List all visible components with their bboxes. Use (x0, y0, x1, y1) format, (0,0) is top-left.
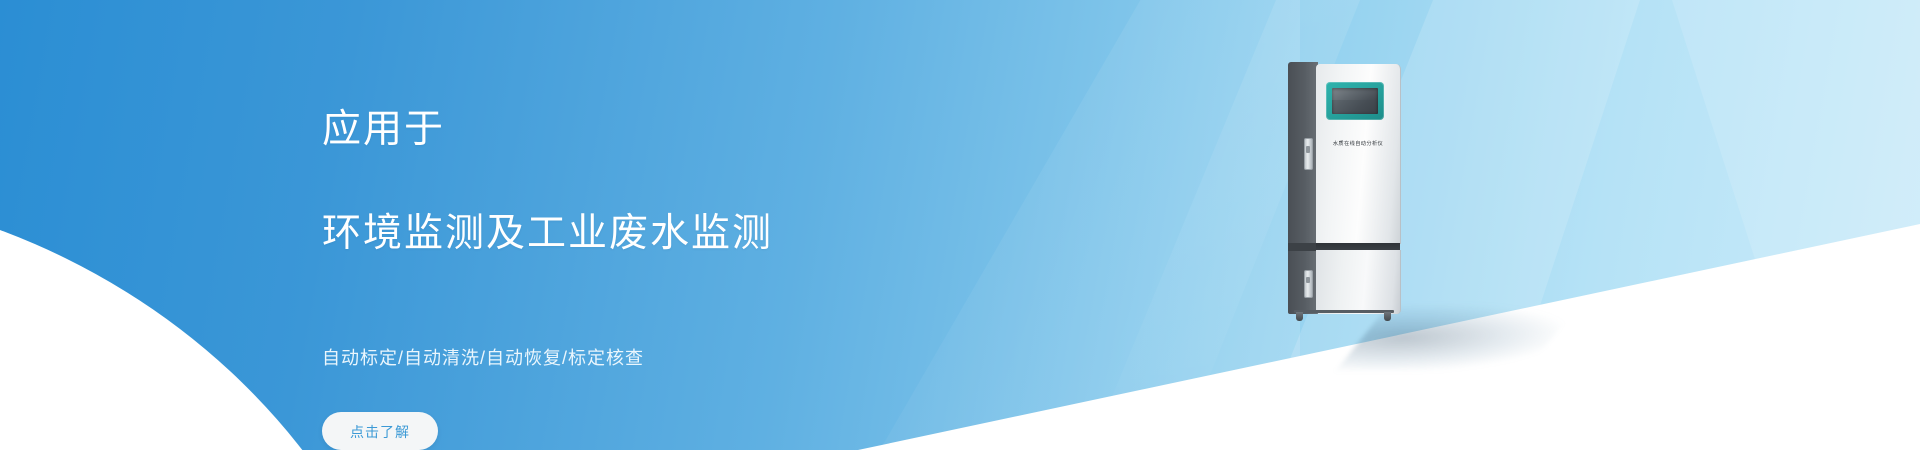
page-title: 应用于 环境监测及工业废水监测 (322, 52, 1082, 312)
hero-copy: 应用于 环境监测及工业废水监测 自动标定/自动清洗/自动恢复/标定核查 点击了解 (322, 52, 1082, 450)
display-bezel (1326, 82, 1384, 120)
cabinet-base-rail (1294, 310, 1394, 313)
display-screen-icon (1332, 88, 1378, 114)
cabinet-lower-door (1316, 250, 1401, 314)
door-handle-lower-icon (1304, 270, 1313, 298)
learn-more-button[interactable]: 点击了解 (322, 412, 438, 450)
cabinet-seam-side (1288, 243, 1317, 251)
device-shadow (1337, 306, 1577, 370)
background-facet-3 (1520, 0, 1920, 450)
door-handle-upper-icon (1304, 138, 1313, 170)
caster-wheel-right-icon (1384, 312, 1391, 321)
screen-glare (1332, 88, 1378, 100)
device-nameplate: 水质在线自动分析仪 (1318, 140, 1398, 147)
headline-line-2: 环境监测及工业废水监测 (322, 208, 1082, 260)
caster-wheel-left-icon (1296, 312, 1303, 321)
headline-line-1: 应用于 (322, 104, 1082, 156)
white-corner-blob-fill (0, 350, 180, 450)
water-quality-analyzer: 水质在线自动分析仪 (1288, 62, 1400, 314)
cabinet-side-panel (1288, 62, 1318, 314)
hero-banner: 应用于 环境监测及工业废水监测 自动标定/自动清洗/自动恢复/标定核查 点击了解… (0, 0, 1920, 450)
hero-subtitle: 自动标定/自动清洗/自动恢复/标定核查 (322, 344, 1082, 370)
product-image: 水质在线自动分析仪 (1288, 62, 1518, 392)
